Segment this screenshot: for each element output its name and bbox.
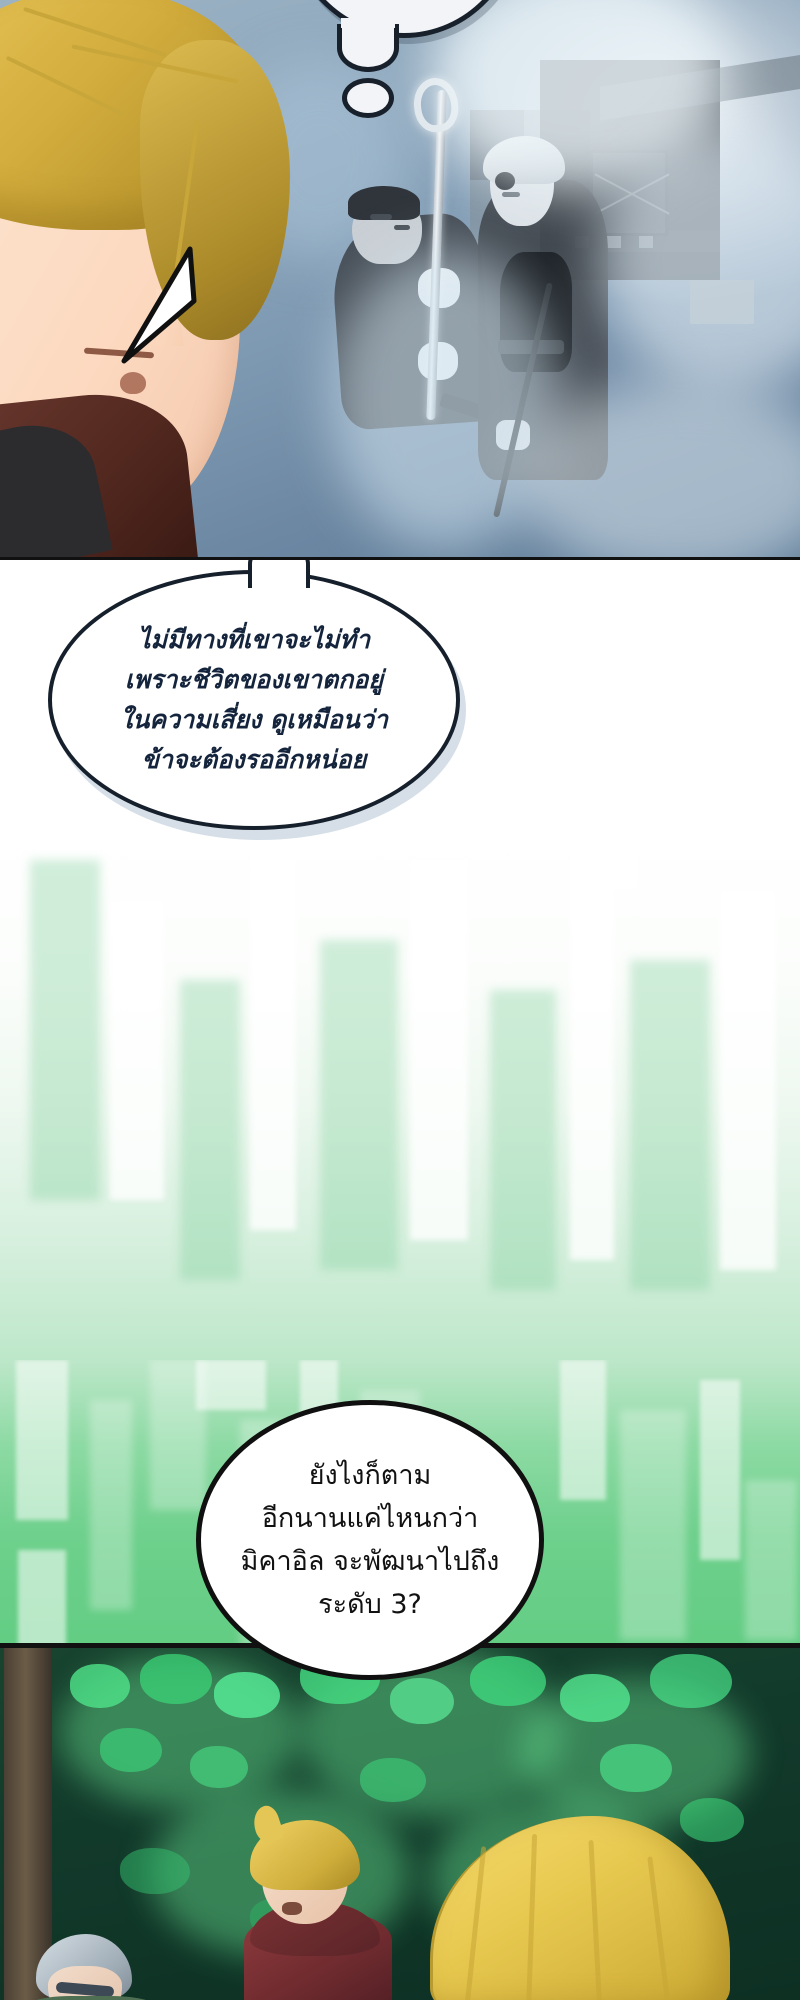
leaf [600,1744,672,1792]
bubble-line: ไม่มีทางที่เขาจะไม่ทำ [138,620,370,660]
mist-column [180,980,240,1280]
thought-bubble-dot [342,78,394,118]
hair-strand [465,1846,487,2000]
flashback-figure-eye [495,172,515,190]
hair-strand [526,1834,537,2000]
flashback-mage-eye [370,214,392,220]
ledge-stud [607,236,621,248]
mist-column [570,830,614,1260]
mist-column [630,960,710,1290]
staff-crystal-head [411,76,460,134]
mist-column [600,770,638,890]
leaf [560,1674,630,1722]
bubble-line: ระดับ 3? [318,1583,422,1626]
hair-strand [647,1856,671,2000]
webtoon-page: ไม่มีทางที่เขาจะไม่ทำ เพราะชีวิตของเขาตก… [0,0,800,2000]
tree-trunk [4,1648,52,2000]
bubble-line: เพราะชีวิตของเขาตกอยู่ [125,660,383,700]
leaf [650,1654,732,1708]
leaf [470,1656,546,1706]
green-column [700,1380,740,1560]
leaf [214,1672,280,1718]
flashback-mage-hand-lower [418,342,458,380]
mist-column [110,900,164,1200]
bubble-seam-mask [252,580,306,594]
leaf [360,1758,426,1802]
green-column [745,1480,797,1640]
bubble-line: มิคาอิล จะพัฒนาไปถึง [241,1540,500,1583]
panel-thought: ไม่มีทางที่เขาจะไม่ทำ เพราะชีวิตของเขาตก… [0,560,800,1360]
bubble-line: อีกนานแค่ไหนกว่า [262,1497,479,1540]
hair-strand [588,1840,602,2000]
green-column [90,1400,132,1610]
mist-column [410,860,468,1240]
leaf [390,1678,454,1724]
green-column [620,1410,686,1640]
protagonist-lower-lip [120,372,146,394]
bubble-line: ข้าจะต้องรออีกหน่อย [142,740,367,780]
green-column [18,1550,66,1643]
flashback-figure-mouth [502,192,520,197]
leaf [120,1848,190,1894]
blonde-boy-mouth [282,1902,302,1915]
green-column [16,1360,68,1520]
thought-bubble-top-neck [337,24,399,72]
leaf [140,1654,212,1704]
leaf [70,1664,130,1708]
leaf [100,1728,162,1772]
green-column [196,1360,266,1410]
bubble-seam-mask [341,18,395,28]
bubble-line: ยังไงก็ตาม [309,1454,432,1497]
mist-column [250,810,296,1230]
thought-bubble-main: ไม่มีทางที่เขาจะไม่ทำ เพราะชีวิตของเขาตก… [48,570,460,830]
green-column [560,1360,606,1500]
mist-column [320,940,398,1270]
thought-bubble-top-cut [286,0,522,38]
mist-column [30,860,100,1200]
leaf [190,1746,248,1788]
bubble-line: ในความเสี่ยง ดูเหมือนว่า [120,700,388,740]
panel-forest [0,1643,800,2000]
mist-column [720,890,776,1270]
speech-bubble-green-panel: ยังไงก็ตาม อีกนานแค่ไหนกว่า มิคาอิล จะพั… [196,1400,544,1680]
ledge-stud [639,236,653,248]
flashback-mage-mouth [394,225,410,230]
leaf [680,1798,744,1842]
mist-column [490,990,556,1290]
speech-bubble-tail [120,245,198,365]
wall-plaque [690,280,754,324]
